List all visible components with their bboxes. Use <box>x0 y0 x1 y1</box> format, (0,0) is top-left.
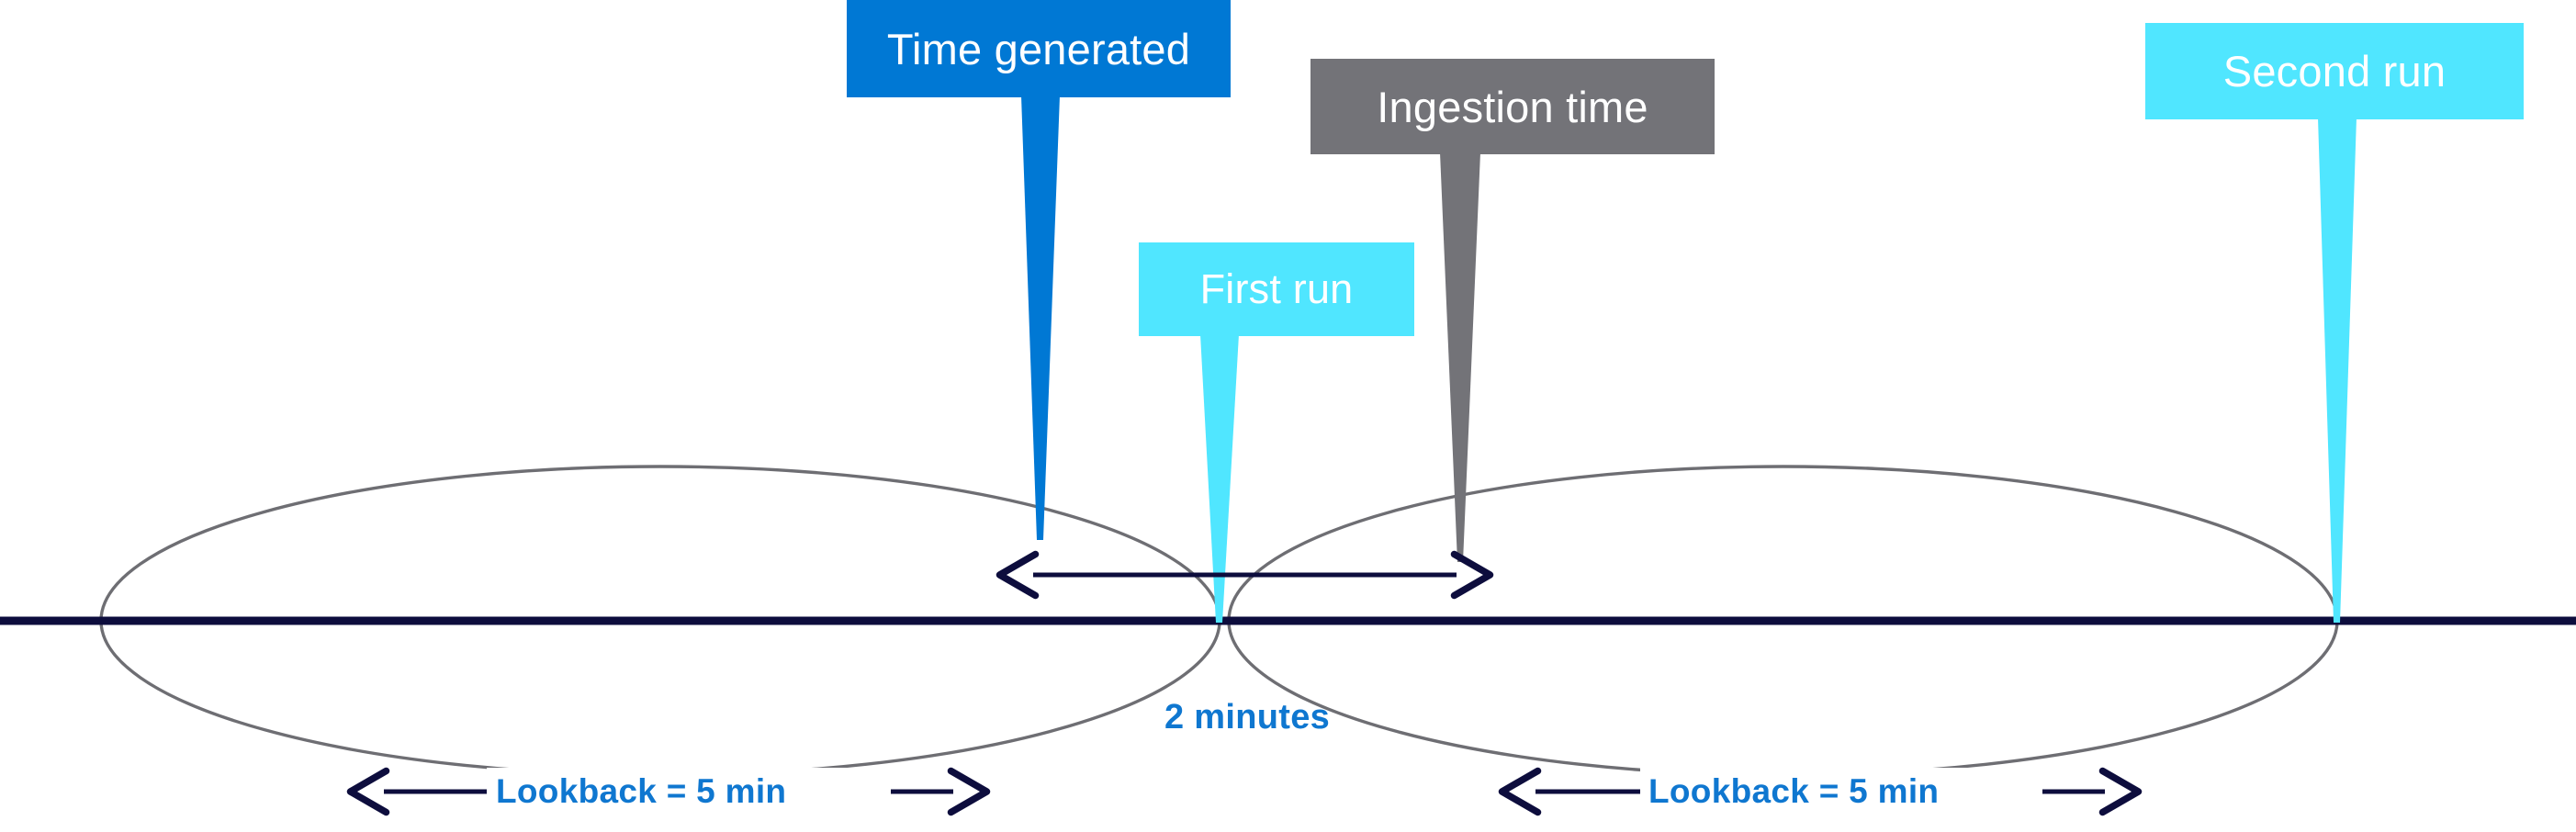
diagram-canvas: Time generated Ingestion time First run … <box>0 0 2576 832</box>
marker-label-time-generated[interactable]: Time generated <box>847 0 1231 97</box>
pin-needle-second-run <box>2318 118 2357 623</box>
marker-label-text: Ingestion time <box>1377 82 1648 132</box>
lookback-annotation-right: Lookback = 5 min <box>1648 772 1939 811</box>
marker-label-text: Time generated <box>887 24 1190 74</box>
marker-label-second-run[interactable]: Second run <box>2145 23 2524 119</box>
marker-label-first-run[interactable]: First run <box>1139 242 1414 336</box>
lookback-annotation-left: Lookback = 5 min <box>496 772 786 811</box>
pin-needle-first-run <box>1200 334 1239 623</box>
pin-needle-time-generated <box>1021 96 1060 540</box>
marker-label-text: First run <box>1200 265 1354 313</box>
delay-annotation: 2 minutes <box>1164 698 1330 737</box>
marker-label-ingestion-time[interactable]: Ingestion time <box>1310 59 1715 154</box>
pin-needle-ingestion-time <box>1440 152 1480 562</box>
marker-label-text: Second run <box>2223 46 2446 96</box>
